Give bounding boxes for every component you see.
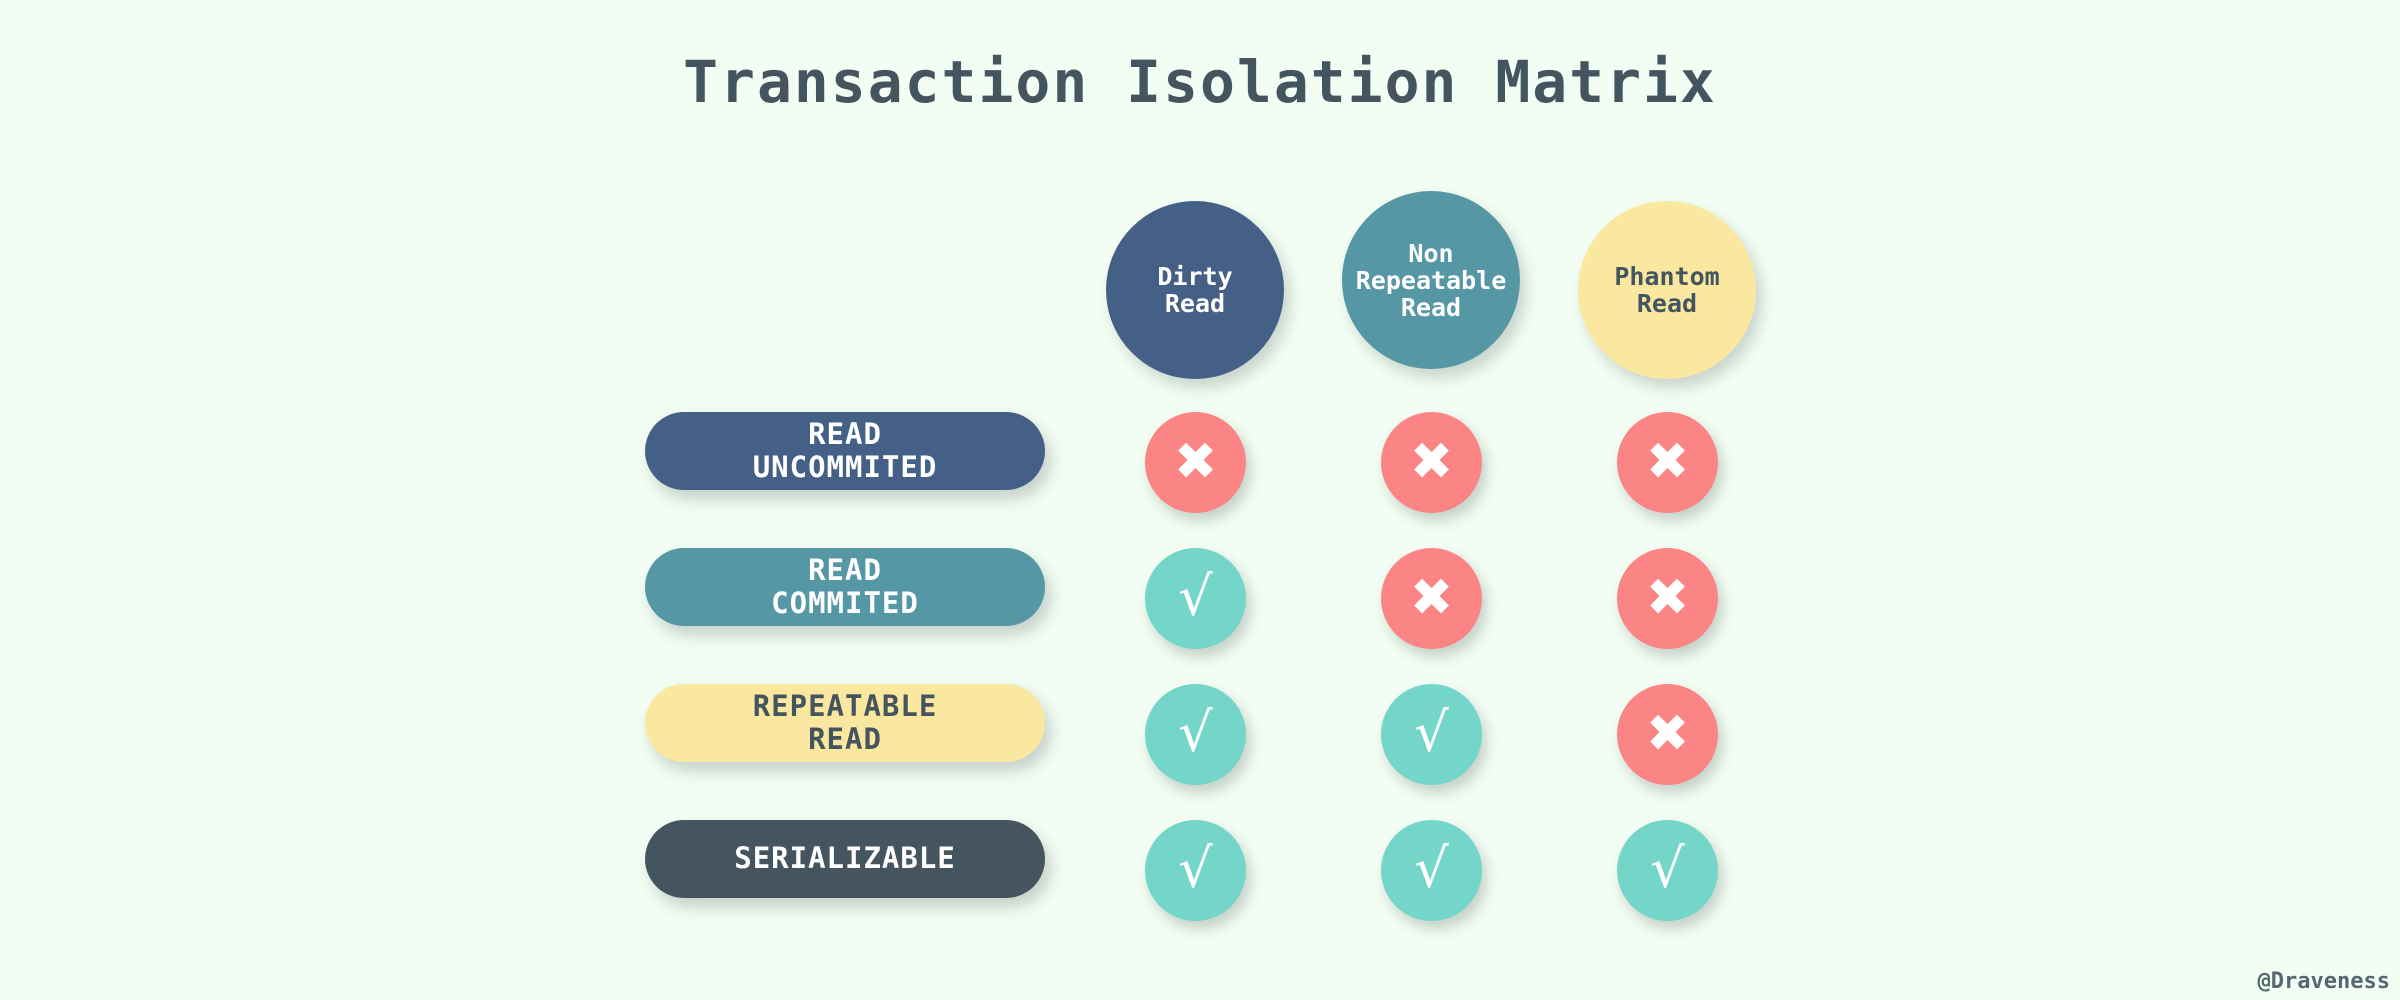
row-label-text: REPEATABLEREAD bbox=[753, 690, 938, 757]
row-label-read-uncommited[interactable]: READUNCOMMITED bbox=[645, 412, 1045, 490]
column-header-phantom-read[interactable]: PhantomRead bbox=[1578, 201, 1756, 379]
matrix-cell-read-uncommited-non-repeatable-read[interactable]: ✖ bbox=[1381, 412, 1482, 513]
row-label-read-commited[interactable]: READCOMMITED bbox=[645, 548, 1045, 626]
cross-icon: ✖ bbox=[1646, 436, 1690, 488]
check-icon: √ bbox=[1178, 570, 1212, 624]
cross-icon: ✖ bbox=[1646, 708, 1690, 760]
matrix-cell-read-commited-dirty-read[interactable]: √ bbox=[1145, 548, 1246, 649]
row-label-repeatable-read[interactable]: REPEATABLEREAD bbox=[645, 684, 1045, 762]
matrix-cell-repeatable-read-non-repeatable-read[interactable]: √ bbox=[1381, 684, 1482, 785]
column-header-non-repeatable-read[interactable]: NonRepeatableRead bbox=[1342, 191, 1520, 369]
column-header-dirty-read[interactable]: DirtyRead bbox=[1106, 201, 1284, 379]
row-label-text: READCOMMITED bbox=[771, 554, 919, 621]
cross-icon: ✖ bbox=[1410, 436, 1454, 488]
matrix-cell-serializable-dirty-read[interactable]: √ bbox=[1145, 820, 1246, 921]
row-label-text: SERIALIZABLE bbox=[734, 842, 956, 875]
check-icon: √ bbox=[1178, 706, 1212, 760]
cross-icon: ✖ bbox=[1410, 572, 1454, 624]
matrix-cell-repeatable-read-phantom-read[interactable]: ✖ bbox=[1617, 684, 1718, 785]
matrix-cell-repeatable-read-dirty-read[interactable]: √ bbox=[1145, 684, 1246, 785]
matrix-cell-serializable-non-repeatable-read[interactable]: √ bbox=[1381, 820, 1482, 921]
matrix-cell-read-uncommited-dirty-read[interactable]: ✖ bbox=[1145, 412, 1246, 513]
cross-icon: ✖ bbox=[1646, 572, 1690, 624]
page-title: Transaction Isolation Matrix bbox=[0, 48, 2400, 116]
matrix-cell-read-uncommited-phantom-read[interactable]: ✖ bbox=[1617, 412, 1718, 513]
matrix-cell-read-commited-non-repeatable-read[interactable]: ✖ bbox=[1381, 548, 1482, 649]
column-header-label: PhantomRead bbox=[1614, 263, 1719, 317]
matrix-cell-serializable-phantom-read[interactable]: √ bbox=[1617, 820, 1718, 921]
cross-icon: ✖ bbox=[1174, 436, 1218, 488]
isolation-matrix-canvas: Transaction Isolation Matrix DirtyReadNo… bbox=[0, 0, 2400, 1000]
matrix-cell-read-commited-phantom-read[interactable]: ✖ bbox=[1617, 548, 1718, 649]
check-icon: √ bbox=[1650, 842, 1684, 896]
check-icon: √ bbox=[1414, 842, 1448, 896]
row-label-text: READUNCOMMITED bbox=[753, 418, 938, 485]
check-icon: √ bbox=[1178, 842, 1212, 896]
column-header-label: DirtyRead bbox=[1157, 263, 1232, 317]
row-label-serializable[interactable]: SERIALIZABLE bbox=[645, 820, 1045, 898]
check-icon: √ bbox=[1414, 706, 1448, 760]
column-header-label: NonRepeatableRead bbox=[1356, 240, 1507, 321]
watermark: @Draveness bbox=[2258, 969, 2390, 994]
